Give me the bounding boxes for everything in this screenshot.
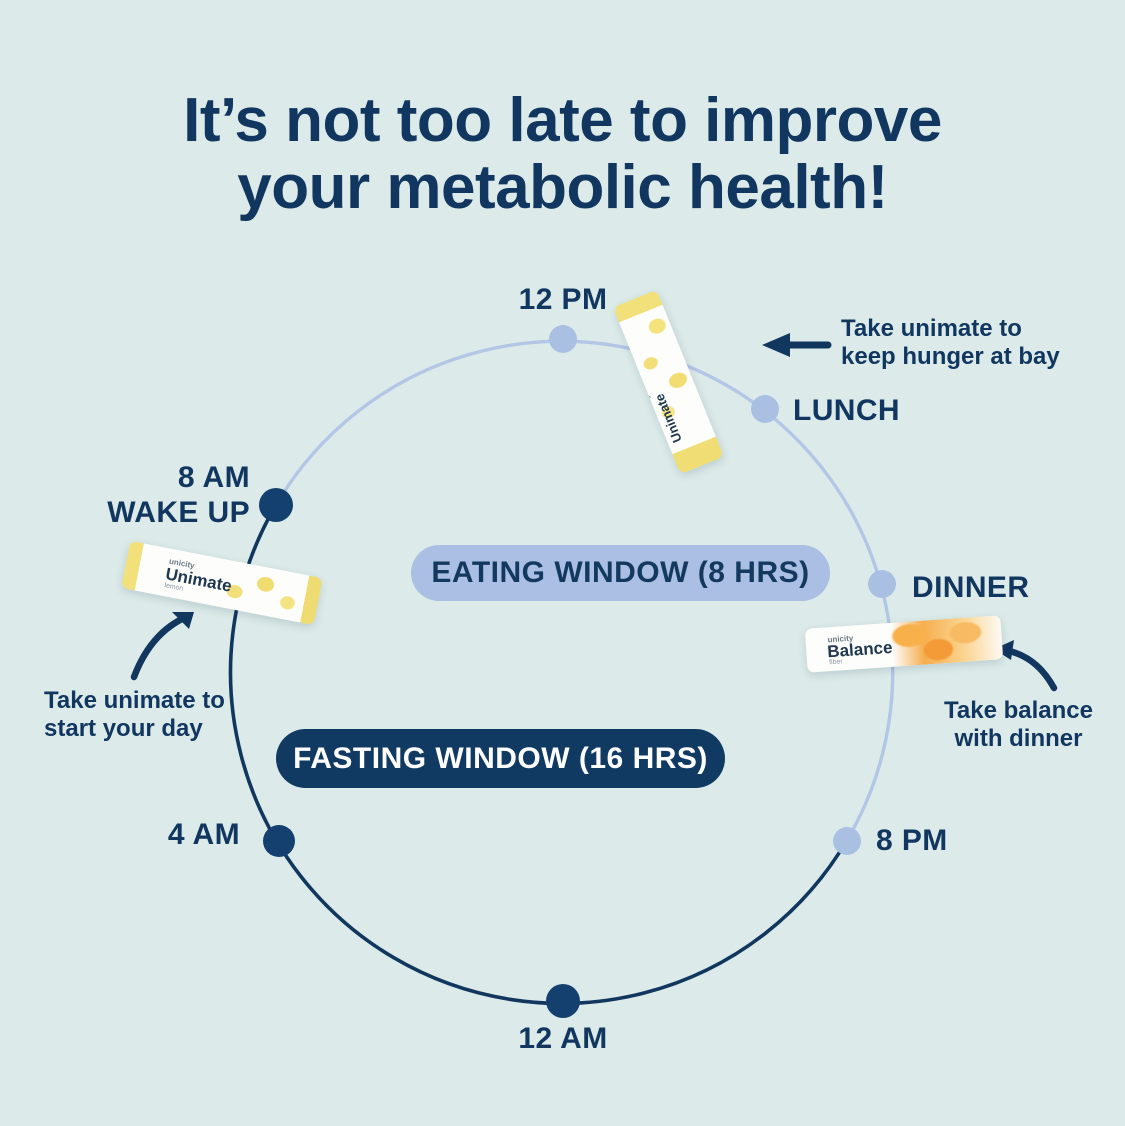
infographic-canvas: It’s not too late to improve your metabo…: [0, 0, 1125, 1126]
annotation-lunch: Take unimate to keep hunger at bay: [841, 315, 1060, 371]
clock-label-8am: 8 AM WAKE UP: [0, 460, 250, 531]
product-flavor: fiber: [829, 658, 843, 666]
annotation-lunch-line-1: Take unimate to: [841, 315, 1022, 342]
annotation-dinner-line-1: Take balance: [944, 697, 1093, 724]
clock-label-8am-event: WAKE UP: [0, 495, 250, 530]
clock-label-8am-time: 8 AM: [178, 461, 250, 494]
clock-label-4am: 4 AM: [0, 818, 240, 852]
arrow-left-icon-lunch: [762, 333, 828, 357]
eating-window-badge[interactable]: EATING WINDOW (8 HRS): [411, 545, 830, 601]
fasting-window-badge[interactable]: FASTING WINDOW (16 HRS): [276, 729, 725, 788]
annotation-dinner: Take balance with dinner: [944, 697, 1093, 753]
clock-dot-12pm[interactable]: [549, 325, 577, 353]
annotation-lunch-line-2: keep hunger at bay: [841, 343, 1060, 370]
annotation-wake-up-line-2: start your day: [44, 715, 203, 742]
arrow-left-icon-dinner: [994, 640, 1054, 688]
clock-dot-4am[interactable]: [263, 825, 295, 857]
clock-dot-8pm[interactable]: [833, 827, 861, 855]
clock-label-8pm: 8 PM: [876, 824, 948, 858]
clock-dot-lunch[interactable]: [751, 395, 779, 423]
clock-label-12am: 12 AM: [463, 1022, 663, 1056]
annotation-wake-up: Take unimate to start your day: [44, 687, 225, 743]
clock-label-lunch: LUNCH: [793, 394, 900, 428]
product-name: Unimate: [164, 564, 234, 596]
annotation-dinner-line-2: with dinner: [954, 725, 1082, 752]
clock-dot-8am[interactable]: [259, 488, 293, 522]
arrow-up-right-icon-wake: [134, 612, 194, 677]
clock-dot-12am[interactable]: [546, 984, 580, 1018]
annotation-wake-up-line-1: Take unimate to: [44, 687, 225, 714]
clock-label-dinner: DINNER: [912, 571, 1029, 605]
clock-dot-dinner[interactable]: [868, 570, 896, 598]
